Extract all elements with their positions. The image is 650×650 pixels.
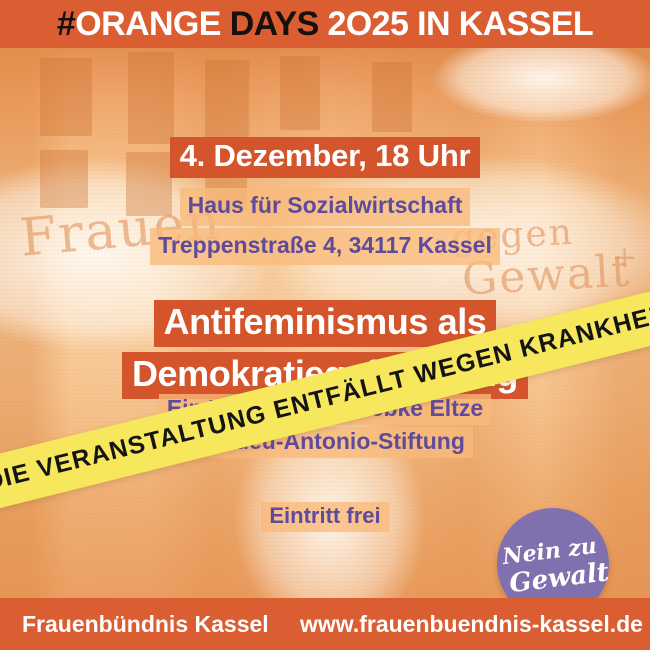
footer-bar: Frauenbündnis Kassel www.frauenbuendnis-…	[0, 598, 650, 650]
venue-name: Haus für Sozialwirtschaft	[180, 188, 471, 226]
event-venue-block: Haus für Sozialwirtschaft Treppenstraße …	[0, 188, 650, 267]
footer-website[interactable]: www.frauenbuendnis-kassel.de	[300, 611, 643, 638]
venue-address: Treppenstraße 4, 34117 Kassel	[150, 228, 500, 266]
event-title-line-1: Antifeminismus als	[154, 300, 497, 347]
event-datetime: 4. Dezember, 18 Uhr	[170, 137, 481, 178]
poster-canvas: Frauen gegen Gewalt + #ORANGE DAYS 2O25 …	[0, 0, 650, 650]
admission-text: Eintritt frei	[261, 502, 388, 532]
event-datetime-line: 4. Dezember, 18 Uhr	[0, 138, 650, 174]
footer-organization: Frauenbündnis Kassel	[22, 611, 269, 638]
